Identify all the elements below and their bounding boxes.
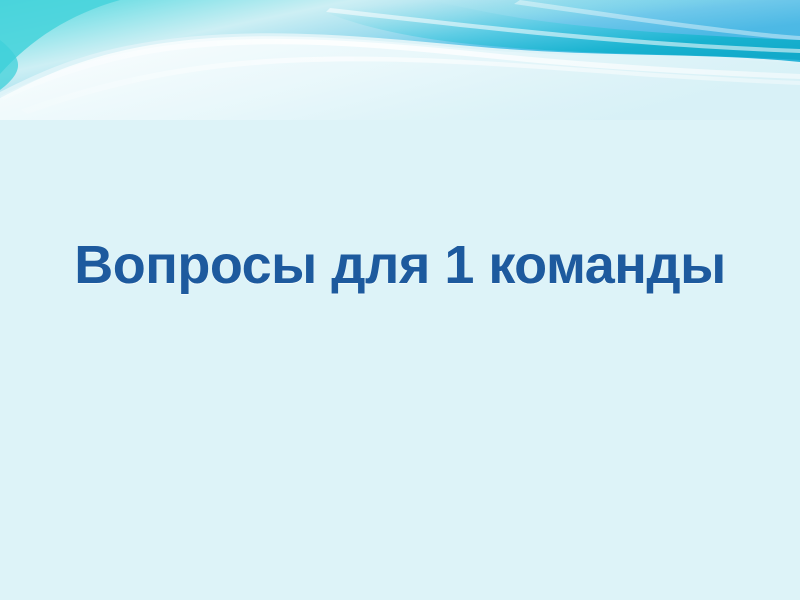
wave-streak-thin [514, 0, 800, 40]
wave-banner-svg [0, 0, 800, 120]
wave-band-sky [430, 0, 800, 40]
wave-band-main [0, 0, 800, 92]
slide-title: Вопросы для 1 команды [74, 236, 726, 295]
wave-band-deep [300, 0, 800, 60]
wave-wedge-left-tip [0, 40, 18, 90]
wave-streak-upper [0, 39, 800, 100]
wave-streak-lower [20, 57, 800, 114]
title-container: Вопросы для 1 команды [0, 236, 800, 295]
wave-streak-diagonal [326, 8, 800, 53]
presentation-slide: Вопросы для 1 команды [0, 0, 800, 600]
wave-wedge-left [0, 0, 120, 74]
wave-crest-pale [0, 36, 800, 120]
wave-banner-decoration [0, 0, 800, 120]
